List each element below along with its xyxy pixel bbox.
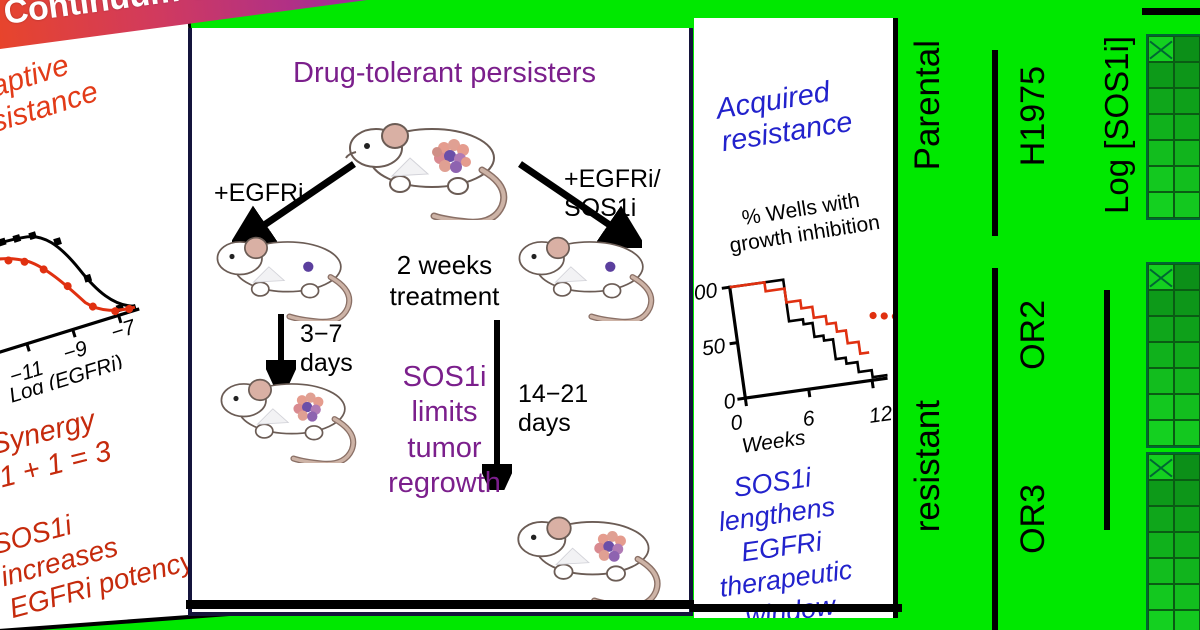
heatmap-cell[interactable]: [1174, 342, 1200, 368]
heatmap-cell[interactable]: [1148, 610, 1174, 630]
top-rule: [1142, 8, 1200, 15]
center-panel-bottom-edge: [186, 600, 698, 609]
x-tick-0: 0: [729, 411, 744, 435]
heatmap-cell[interactable]: [1148, 192, 1174, 218]
heatmap-cell[interactable]: [1148, 454, 1174, 480]
center-panel: Drug-tolerant persisters: [188, 28, 693, 616]
y-tick-50: 50: [700, 334, 727, 360]
heatmap-cell[interactable]: [1148, 584, 1174, 610]
heatmap-cell[interactable]: [1174, 62, 1200, 88]
right-panel: Acquired resistance % Wells with growth …: [694, 18, 898, 618]
sos1i-axis-rule: [1104, 290, 1110, 530]
heatmap-cell[interactable]: [1174, 394, 1200, 420]
heatmap-row: [1148, 140, 1200, 166]
heatmap-cell[interactable]: [1148, 480, 1174, 506]
right-panel-bottom-edge: [690, 604, 902, 612]
heatmap-cell[interactable]: [1148, 114, 1174, 140]
sos1i-increases-label: SOS1i increases EGFRi potency: [0, 480, 198, 625]
heatmap-cell[interactable]: [1148, 36, 1174, 62]
heatmap-cell[interactable]: [1174, 114, 1200, 140]
heatmap-row: [1148, 36, 1200, 62]
mouse-top-icon: [332, 100, 542, 220]
heatmap-row: [1148, 610, 1200, 630]
dose-response-chart: 100 50 0 −11 −9 −7 Log (EGFRi) viab: [0, 171, 174, 421]
heatmap-cell[interactable]: [1174, 506, 1200, 532]
sos1i-axis-label: Log [SOS1i]: [1098, 36, 1136, 214]
heatmap-cell[interactable]: [1148, 558, 1174, 584]
heatmap-row: [1148, 290, 1200, 316]
x-tick-12: 12: [867, 402, 894, 428]
heatmap-cell[interactable]: [1148, 140, 1174, 166]
x-axis-label: Weeks: [740, 426, 807, 458]
heatmap-row: [1148, 368, 1200, 394]
heatmap-cell[interactable]: [1148, 342, 1174, 368]
growth-inhibition-chart: 100 50 0 0 6 12 Weeks: [694, 251, 898, 460]
heatmap-cell[interactable]: [1148, 532, 1174, 558]
heatmap-cell[interactable]: [1174, 36, 1200, 62]
red-ellipsis-dots: [869, 308, 898, 323]
heatmap-or2[interactable]: [1146, 262, 1200, 448]
y-tick-0: 0: [722, 390, 737, 414]
heatmap-cell[interactable]: [1174, 192, 1200, 218]
heatmap-cell[interactable]: [1174, 88, 1200, 114]
center-panel-title: Drug-tolerant persisters: [192, 58, 693, 89]
y-tick-100: 100: [694, 279, 719, 307]
cell-line-label-or3: OR3: [1014, 484, 1053, 554]
heatmap-row: [1148, 480, 1200, 506]
heatmap-cell[interactable]: [1148, 420, 1174, 446]
heatmap-cell[interactable]: [1174, 316, 1200, 342]
heatmap-cell[interactable]: [1174, 584, 1200, 610]
heatmap-row: [1148, 316, 1200, 342]
group-rule-resistant: [992, 268, 998, 630]
cross-icon: [1149, 455, 1173, 479]
cross-icon: [1149, 37, 1173, 61]
heatmap-cell[interactable]: [1174, 140, 1200, 166]
adaptive-resistance-label: Adaptive resistance: [0, 43, 102, 148]
heatmap-cell[interactable]: [1174, 290, 1200, 316]
heatmap-cell[interactable]: [1148, 290, 1174, 316]
heatmap-row: [1148, 454, 1200, 480]
heatmap-row: [1148, 506, 1200, 532]
heatmap-row: [1148, 264, 1200, 290]
graphical-abstract: Adaptive resistance: [0, 0, 1200, 630]
acquired-resistance-label: Acquired resistance: [714, 73, 855, 160]
cell-line-label-or2: OR2: [1014, 300, 1053, 370]
heatmap-row: [1148, 192, 1200, 218]
heatmap-cell[interactable]: [1148, 62, 1174, 88]
x-tick-neg7: −7: [108, 315, 139, 344]
right-conclusion-label: SOS1i lengthens EGFRi therapeutic window: [704, 457, 859, 618]
heatmap-cell[interactable]: [1148, 316, 1174, 342]
heatmap-cell[interactable]: [1174, 454, 1200, 480]
group-label-resistant: resistant: [908, 400, 948, 532]
heatmap-row: [1148, 394, 1200, 420]
heatmap-cell[interactable]: [1148, 394, 1174, 420]
heatmap-cell[interactable]: [1148, 506, 1174, 532]
heatmap-cell[interactable]: [1148, 88, 1174, 114]
heatmap-row: [1148, 558, 1200, 584]
heatmap-h1975[interactable]: [1146, 34, 1200, 220]
cross-icon: [1149, 265, 1173, 289]
heatmap-row: [1148, 532, 1200, 558]
heatmap-row: [1148, 114, 1200, 140]
cell-line-label-h1975: H1975: [1014, 66, 1053, 166]
heatmap-cell[interactable]: [1148, 264, 1174, 290]
treatment-duration-label: 2 weeks treatment: [192, 250, 693, 312]
heatmap-cell[interactable]: [1174, 368, 1200, 394]
heatmap-row: [1148, 166, 1200, 192]
green-panel: Parental resistant H1975 OR2 OR3 Log [SO…: [902, 0, 1200, 630]
growth-inhibition-chart-title: % Wells with growth inhibition: [724, 186, 882, 259]
heatmap-cell[interactable]: [1174, 420, 1200, 446]
heatmap-row: [1148, 420, 1200, 446]
heatmap-cell[interactable]: [1174, 480, 1200, 506]
heatmap-cell[interactable]: [1148, 166, 1174, 192]
group-label-parental: Parental: [908, 40, 948, 170]
synergy-label: Synergy 1 + 1 = 3: [0, 401, 115, 495]
center-conclusion-label: SOS1i limits tumor regrowth: [192, 360, 693, 502]
heatmap-cell[interactable]: [1174, 532, 1200, 558]
heatmap-row: [1148, 584, 1200, 610]
heatmap-cell[interactable]: [1148, 368, 1174, 394]
heatmap-cell[interactable]: [1174, 610, 1200, 630]
heatmap-row: [1148, 342, 1200, 368]
group-rule-parental: [992, 50, 998, 236]
heatmap-row: [1148, 62, 1200, 88]
mouse-bottom-right-icon: [502, 494, 692, 606]
right-arrow-label-line1: +EGFRi/: [564, 166, 661, 193]
heatmap-cell[interactable]: [1174, 166, 1200, 192]
left-arrow-label: +EGFRi: [214, 180, 304, 207]
heatmap-row: [1148, 88, 1200, 114]
heatmap-cell[interactable]: [1174, 558, 1200, 584]
heatmap-or3[interactable]: [1146, 452, 1200, 630]
heatmap-cell[interactable]: [1174, 264, 1200, 290]
